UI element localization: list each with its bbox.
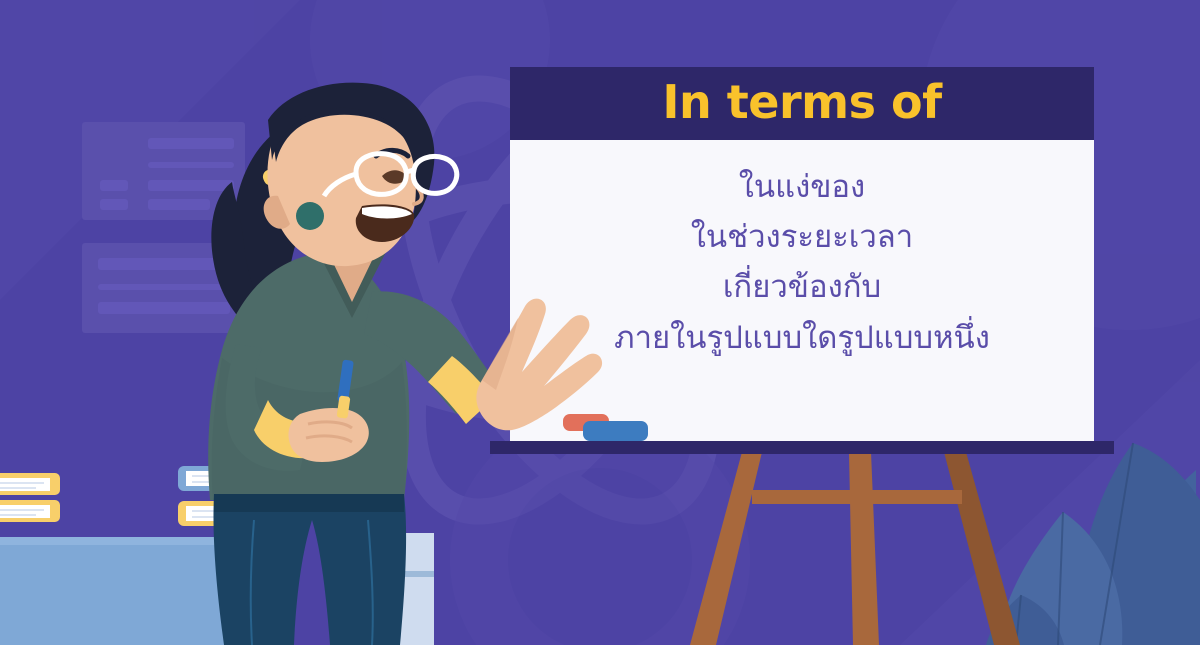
- earring: [296, 202, 324, 230]
- waistband: [214, 494, 404, 512]
- hand-raised: [476, 299, 602, 431]
- teacher-woman: [0, 0, 1200, 645]
- slide-canvas: In terms of ในแง่ของ ในช่วงระยะเวลา เกี่…: [0, 0, 1200, 645]
- trousers: [213, 494, 406, 645]
